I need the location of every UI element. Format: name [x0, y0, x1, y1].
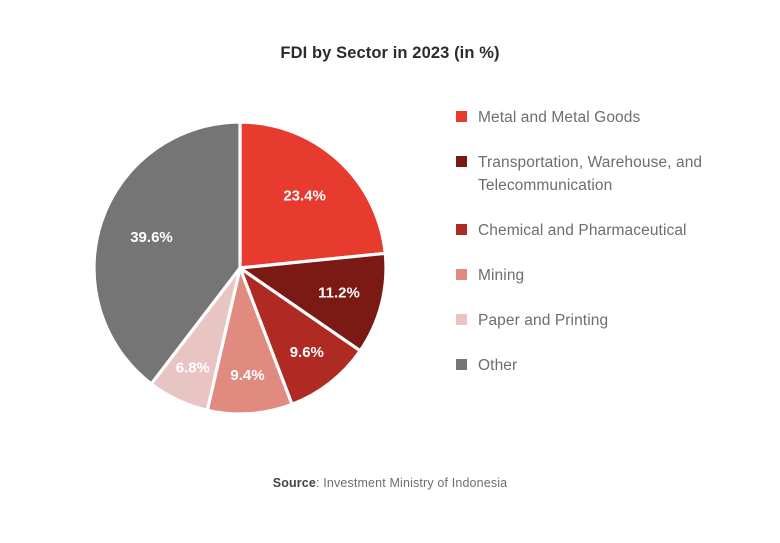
legend-item-label: Mining — [478, 264, 524, 287]
source-note: Source: Investment Ministry of Indonesia — [0, 476, 780, 490]
legend-item-label: Other — [478, 354, 517, 377]
legend-swatch-icon — [456, 156, 467, 167]
legend-swatch-icon — [456, 224, 467, 235]
pie-slice-value-label: 9.6% — [290, 344, 324, 361]
legend-item-label: Metal and Metal Goods — [478, 106, 640, 129]
pie-chart-figure: FDI by Sector in 2023 (in %) 23.4%11.2%9… — [0, 0, 780, 543]
chart-title: FDI by Sector in 2023 (in %) — [0, 44, 780, 63]
legend-swatch-icon — [456, 359, 467, 370]
legend-item-label: Chemical and Pharmaceutical — [478, 219, 687, 242]
legend-item[interactable]: Chemical and Pharmaceutical — [456, 219, 756, 242]
pie-slice-value-label: 11.2% — [318, 284, 360, 301]
pie-svg: 23.4%11.2%9.6%9.4%6.8%39.6% — [88, 116, 392, 420]
pie-slice-value-label: 39.6% — [130, 229, 173, 246]
legend-item[interactable]: Mining — [456, 264, 756, 287]
chart-legend: Metal and Metal GoodsTransportation, War… — [456, 106, 756, 399]
legend-swatch-icon — [456, 314, 467, 325]
legend-item-label: Transportation, Warehouse, and Telecommu… — [478, 151, 756, 197]
pie-slice-value-label: 6.8% — [176, 359, 210, 376]
pie-slice-value-label: 23.4% — [283, 187, 326, 204]
legend-swatch-icon — [456, 269, 467, 280]
source-text: Investment Ministry of Indonesia — [323, 476, 507, 490]
legend-item[interactable]: Other — [456, 354, 756, 377]
legend-item[interactable]: Metal and Metal Goods — [456, 106, 756, 129]
legend-item-label: Paper and Printing — [478, 309, 608, 332]
legend-item[interactable]: Paper and Printing — [456, 309, 756, 332]
source-prefix: Source — [273, 476, 316, 490]
pie-plot-area: 23.4%11.2%9.6%9.4%6.8%39.6% — [88, 116, 392, 420]
legend-item[interactable]: Transportation, Warehouse, and Telecommu… — [456, 151, 756, 197]
pie-slice-value-label: 9.4% — [230, 367, 264, 384]
legend-swatch-icon — [456, 111, 467, 122]
